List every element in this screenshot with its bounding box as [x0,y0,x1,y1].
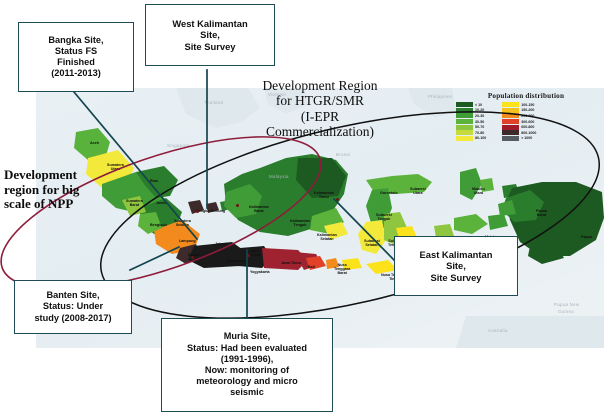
province-label-line: Jakarta [215,243,228,247]
province-label-line: Gorontalo [380,192,398,196]
legend-label: 70-80 [475,131,484,135]
legend-row: 80-100 [456,136,486,142]
legend-label: 100-150 [521,103,534,107]
legend-swatch [456,125,473,130]
province-label: Yogyakarta [250,271,270,275]
province-label-line: Yogyakarta [250,271,270,275]
callout-east-kalimantan-site[interactable]: East Kalimantan Site, Site Survey [394,236,518,296]
callout-line: Finished [48,57,103,68]
banten-marker[interactable] [191,256,194,259]
province-label-line: Jawa Barat [226,260,245,264]
callout-line: (1991-1996), [187,354,307,365]
province-label: Jambi [156,202,167,206]
province-label-line: Bengkulu [150,224,167,228]
geo-label: Guinea [558,309,574,314]
province-label: Bangka Belitung [196,210,225,214]
legend-label: 50-70 [475,125,484,129]
province-label: KalimantanBarat [249,206,269,214]
callout-line: Bangka Site, [48,35,103,46]
callout-west-kalimantan-site[interactable]: West Kalimantan Site, Site Survey [145,4,275,66]
province-label-line: Selatan [317,238,337,242]
west-kalimantan-marker[interactable] [236,204,239,207]
province-label: Jakarta [215,243,228,247]
callout-line: Site Survey [172,41,247,52]
legend-label: 150-200 [521,108,534,112]
province-label-line: Tengah [290,224,310,228]
province-label: Gorontalo [380,192,398,196]
province-label: Banten [188,254,201,258]
province-label-line: Utara [472,192,485,196]
province-label: Bali [308,266,315,270]
province-label-line: Tengah [376,218,392,222]
geo-label: Australia [488,328,508,333]
callout-line: Banten Site, [34,290,111,301]
province-label: KalimantanTengah [290,220,310,228]
legend-label: 200-300 [521,114,534,118]
callout-line: West Kalimantan [172,18,247,29]
legend-swatch [456,113,473,118]
province-label-line: Banten [188,254,201,258]
province-label-line: Papua [581,236,592,240]
province-label-line: Lampung [179,240,196,244]
province-label-line: Barat [536,214,547,218]
callout-line: Site, [172,29,247,40]
province-label: PapuaBarat [536,210,547,218]
province-label: KalimantanSelatan [317,234,337,242]
bangka-marker[interactable] [196,210,199,213]
legend-label: 30-50 [475,120,484,124]
province-label-line: Jambi [156,202,167,206]
province-label-line: Utara [410,192,426,196]
province-label: SulawesiTengah [376,214,392,222]
east-kalimantan-marker[interactable] [336,198,339,201]
province-label-line: Barat [249,210,269,214]
province-label-line: Barat [334,272,350,276]
province-label-line: Bali [308,266,315,270]
callout-muria-site[interactable]: Muria Site, Status: Had been evaluated (… [161,318,333,412]
legend-swatch [502,125,519,130]
province-label: KalimantanTimur [314,192,334,200]
legend-label: 10-20 [475,108,484,112]
npp-region-label: Development region for big scale of NPP [4,168,154,212]
province-label-line: Aceh [90,142,99,146]
province-label-line: Selatan [364,244,380,248]
province-label: JawaTengah [248,250,261,258]
callout-line: Site Survey [420,272,493,283]
legend-swatch [502,102,519,107]
callout-line: (2011-2013) [48,68,103,79]
legend-swatch [456,108,473,113]
province-label: SumateraSelatan [174,220,191,228]
legend-label: 20-30 [475,114,484,118]
province-label: Papua [581,236,592,240]
callout-line: East Kalimantan [420,249,493,260]
callout-line: Muria Site, [187,331,307,342]
callout-bangka-site[interactable]: Bangka Site, Status FS Finished (2011-20… [18,22,134,92]
province-label-line: Timur [314,196,334,200]
legend-label: 600-800 [521,125,534,129]
legend-column-high: 100-150150-200200-300300-600600-800800-1… [502,102,536,141]
legend-swatch [502,136,519,141]
legend-title: Population distribution [452,92,600,100]
callout-banten-site[interactable]: Banten Site, Status: Under study (2008-2… [14,280,132,334]
legend-swatch [502,130,519,135]
legend-label: 300-600 [521,120,534,124]
callout-line: seismic [187,387,307,398]
province-label: Jawa Barat [226,260,245,264]
province-label: Bengkulu [150,224,167,228]
province-label-line: Bangka Belitung [196,210,225,214]
callout-line: meteorology and micro [187,376,307,387]
muria-marker[interactable] [247,254,250,257]
legend-label: < 10 [475,103,482,107]
legend-column-low: < 1010-2020-3030-5050-7070-8080-100 [456,102,486,141]
geo-label: Brunei [336,152,351,157]
province-label-line: Selatan [174,224,191,228]
population-legend: Population distribution < 1010-2020-3030… [452,92,600,141]
callout-line: study (2008-2017) [34,313,111,324]
province-label: SulawesiSelatan [364,240,380,248]
province-label: Jawa Timur [281,262,301,266]
province-label: Lampung [179,240,196,244]
callout-line: Now: monitoring of [187,365,307,376]
legend-swatch [456,136,473,141]
province-label: Aceh [90,142,99,146]
legend-label: 80-100 [475,136,486,140]
province-label: NusaTenggaraBarat [334,264,350,276]
legend-swatch [502,108,519,113]
province-label: SulawesiUtara [410,188,426,196]
province-label-line: Jawa Timur [281,262,301,266]
figure-root: Thailand Vietnam Singapore Malaysia Brun… [0,0,610,420]
province-label: MalukuUtara [472,188,485,196]
legend-swatch [456,102,473,107]
legend-swatch [456,119,473,124]
legend-swatch [456,130,473,135]
legend-swatch [502,119,519,124]
htgr-region-label: Development Region for HTGR/SMR (I-EPR C… [218,78,422,139]
callout-line: Status: Had been evaluated [187,343,307,354]
legend-label: > 1000 [521,136,532,140]
callout-line: Site, [420,260,493,271]
legend-swatch [502,113,519,118]
callout-line: Status: Under [34,301,111,312]
geo-label: Malaysia [269,174,289,179]
callout-line: Status FS [48,46,103,57]
geo-label: Singapore [167,143,190,148]
geo-label: Papua New [554,302,579,307]
legend-row: > 1000 [502,136,536,142]
geo-label: Philippines [428,94,453,99]
legend-label: 800-1000 [521,131,536,135]
